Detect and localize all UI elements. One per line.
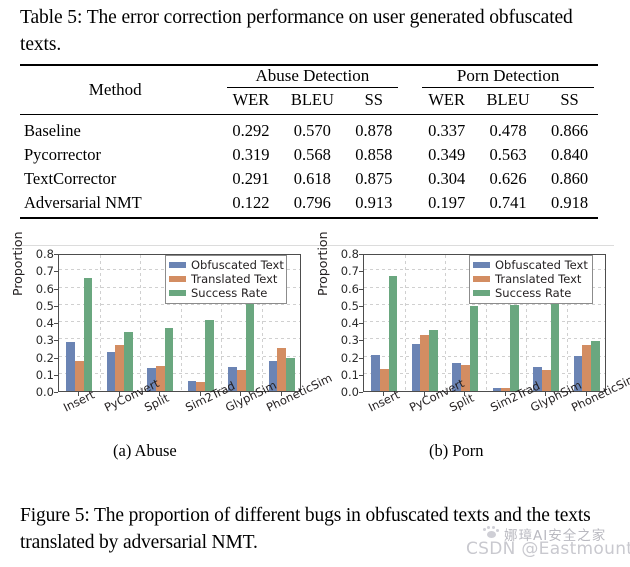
gridline-vertical: [445, 255, 446, 391]
gridline-vertical: [140, 255, 141, 391]
y-tick-label: 0.0: [24, 387, 54, 397]
legend-item: Translated Text: [169, 272, 282, 286]
chart-legend: Obfuscated TextTranslated TextSuccess Ra…: [165, 255, 287, 304]
bar: [188, 381, 197, 391]
table-gutter-2: [402, 167, 418, 191]
table-cell-value: 0.875: [345, 167, 402, 191]
table-cell-value: 0.858: [345, 143, 402, 167]
y-axis-ticks: 0.00.10.20.30.40.50.60.70.8: [24, 250, 54, 395]
gridline-vertical: [100, 255, 101, 391]
gridline-vertical: [405, 255, 406, 391]
bar: [124, 332, 133, 391]
table-cell-value: 0.618: [279, 167, 345, 191]
table-row: Adversarial NMT 0.122 0.796 0.913 0.197 …: [20, 191, 598, 219]
legend-swatch: [169, 276, 186, 282]
legend-item: Obfuscated Text: [169, 258, 282, 272]
legend-swatch: [473, 262, 490, 268]
bar: [591, 341, 600, 391]
bar: [115, 345, 124, 391]
y-axis-label: Proportion: [315, 232, 330, 297]
table-subheader-abuse-bleu: BLEU: [279, 88, 345, 115]
y-tick-label: 0.1: [329, 370, 359, 380]
table-gutter-1: [207, 65, 223, 115]
table-cell-value: 0.866: [541, 115, 598, 143]
table-group-header-porn: Porn Detection: [418, 65, 598, 87]
bar: [237, 370, 246, 391]
legend-swatch: [169, 290, 186, 296]
subcaption-abuse: (a) Abuse: [113, 441, 177, 461]
figure-caption: Figure 5: The proportion of different bu…: [20, 502, 620, 556]
table-cell-value: 0.878: [345, 115, 402, 143]
table-cell-value: 0.304: [418, 167, 475, 191]
table-cell-method: TextCorrector: [20, 167, 207, 191]
table-cell-method: Pycorrector: [20, 143, 207, 167]
table-cell-value: 0.796: [279, 191, 345, 219]
bar: [75, 361, 84, 391]
gridline-horizontal: [59, 356, 300, 357]
y-tick-label: 0.7: [329, 266, 359, 276]
bar: [277, 348, 286, 391]
gridline-horizontal: [59, 338, 300, 339]
legend-label: Obfuscated Text: [191, 259, 284, 271]
bar: [389, 276, 398, 391]
y-tick-label: 0.5: [329, 301, 359, 311]
table-gutter-1: [207, 115, 223, 143]
bar-chart-abuse: Proportion0.00.10.20.30.40.50.60.70.8Ins…: [12, 250, 312, 430]
subcaption-porn: (b) Porn: [429, 441, 484, 461]
legend-swatch: [473, 290, 490, 296]
bar: [412, 344, 421, 391]
table-header-method: Method: [20, 65, 207, 115]
bar: [246, 302, 255, 391]
table-cell-value: 0.913: [345, 191, 402, 219]
gridline-horizontal: [364, 373, 605, 374]
chart-legend: Obfuscated TextTranslated TextSuccess Ra…: [469, 255, 593, 304]
gridline-horizontal: [364, 321, 605, 322]
bar: [429, 330, 438, 391]
table-caption: Table 5: The error correction performanc…: [20, 4, 612, 58]
y-tick-label: 0.7: [24, 266, 54, 276]
y-tick-label: 0.1: [24, 370, 54, 380]
gridline-horizontal: [364, 356, 605, 357]
legend-item: Success Rate: [473, 286, 588, 300]
legend-item: Success Rate: [169, 286, 282, 300]
bar: [470, 306, 479, 391]
bar: [420, 335, 429, 391]
gridline-horizontal: [59, 321, 300, 322]
gridline-horizontal: [364, 338, 605, 339]
bar: [66, 342, 75, 391]
table-row: TextCorrector 0.291 0.618 0.875 0.304 0.…: [20, 167, 598, 191]
legend-swatch: [169, 262, 186, 268]
bar: [582, 345, 591, 391]
bar: [380, 369, 389, 391]
table-row: Pycorrector 0.319 0.568 0.858 0.349 0.56…: [20, 143, 598, 167]
table-cell-value: 0.349: [418, 143, 475, 167]
bar: [205, 320, 214, 391]
legend-swatch: [473, 276, 490, 282]
table-cell-value: 0.570: [279, 115, 345, 143]
table-subheader-porn-bleu: BLEU: [475, 88, 541, 115]
table-cell-value: 0.918: [541, 191, 598, 219]
y-tick-label: 0.4: [329, 318, 359, 328]
table-subheader-porn-wer: WER: [418, 88, 475, 115]
y-tick-label: 0.6: [329, 284, 359, 294]
bar: [107, 352, 116, 391]
results-table-container: Method Abuse Detection Porn Detection WE…: [20, 64, 598, 219]
table-cell-value: 0.319: [223, 143, 280, 167]
y-tick-label: 0.5: [24, 301, 54, 311]
table-subheader-abuse-wer: WER: [223, 88, 280, 115]
table-gutter-1: [207, 191, 223, 219]
legend-label: Translated Text: [191, 273, 277, 285]
y-tick-label: 0.0: [329, 387, 359, 397]
table-cell-method: Baseline: [20, 115, 207, 143]
table-cell-value: 0.122: [223, 191, 280, 219]
table-cell-method: Adversarial NMT: [20, 191, 207, 219]
table-header-row-groups: Method Abuse Detection Porn Detection: [20, 65, 598, 87]
bar: [493, 388, 502, 391]
table-cell-value: 0.291: [223, 167, 280, 191]
bar: [542, 370, 551, 391]
table-cell-value: 0.337: [418, 115, 475, 143]
legend-item: Translated Text: [473, 272, 588, 286]
x-axis-ticks: InsertPyConvertSplitSim2TradGlyphSimPhon…: [58, 396, 308, 430]
y-axis-ticks: 0.00.10.20.30.40.50.60.70.8: [329, 250, 359, 395]
bar-chart-porn: Proportion0.00.10.20.30.40.50.60.70.8Ins…: [317, 250, 617, 430]
legend-label: Obfuscated Text: [495, 259, 588, 271]
y-tick-label: 0.2: [24, 353, 54, 363]
table-cell-value: 0.292: [223, 115, 280, 143]
bar: [371, 355, 380, 391]
figure-row: Proportion0.00.10.20.30.40.50.60.70.8Ins…: [0, 250, 630, 430]
table-gutter-1: [207, 167, 223, 191]
legend-label: Success Rate: [191, 287, 267, 299]
legend-label: Success Rate: [495, 287, 571, 299]
gridline-horizontal: [59, 373, 300, 374]
bar: [84, 278, 93, 391]
table-cell-value: 0.568: [279, 143, 345, 167]
y-tick-mark: [359, 392, 363, 393]
table-gutter-2: [402, 115, 418, 143]
results-table: Method Abuse Detection Porn Detection WE…: [20, 64, 598, 219]
table-row: Baseline 0.292 0.570 0.878 0.337 0.478 0…: [20, 115, 598, 143]
table-cell-value: 0.741: [475, 191, 541, 219]
table-gutter-2: [402, 191, 418, 219]
x-axis-ticks: InsertPyConvertSplitSim2TradGlyphSimPhon…: [363, 396, 613, 430]
bar: [165, 328, 174, 391]
y-tick-label: 0.6: [24, 284, 54, 294]
table-cell-value: 0.626: [475, 167, 541, 191]
legend-label: Translated Text: [495, 273, 581, 285]
table-group-header-abuse: Abuse Detection: [223, 65, 403, 87]
y-tick-label: 0.8: [329, 249, 359, 259]
table-gutter-2: [402, 143, 418, 167]
table-cell-value: 0.197: [418, 191, 475, 219]
table-subheader-abuse-ss: SS: [345, 88, 402, 115]
table-cell-value: 0.840: [541, 143, 598, 167]
table-cell-value: 0.563: [475, 143, 541, 167]
y-axis-label: Proportion: [10, 232, 25, 297]
y-tick-label: 0.3: [329, 335, 359, 345]
table-subheader-porn-ss: SS: [541, 88, 598, 115]
y-tick-label: 0.8: [24, 249, 54, 259]
bar: [551, 299, 560, 391]
legend-item: Obfuscated Text: [473, 258, 588, 272]
y-tick-label: 0.3: [24, 335, 54, 345]
bar: [510, 305, 519, 391]
table-cell-value: 0.478: [475, 115, 541, 143]
table-gutter-1: [207, 143, 223, 167]
table-gutter-2: [402, 65, 418, 115]
y-tick-label: 0.4: [24, 318, 54, 328]
y-tick-mark: [54, 392, 58, 393]
bar: [196, 382, 205, 391]
bar: [286, 358, 295, 391]
table-cell-value: 0.860: [541, 167, 598, 191]
y-tick-label: 0.2: [329, 353, 359, 363]
